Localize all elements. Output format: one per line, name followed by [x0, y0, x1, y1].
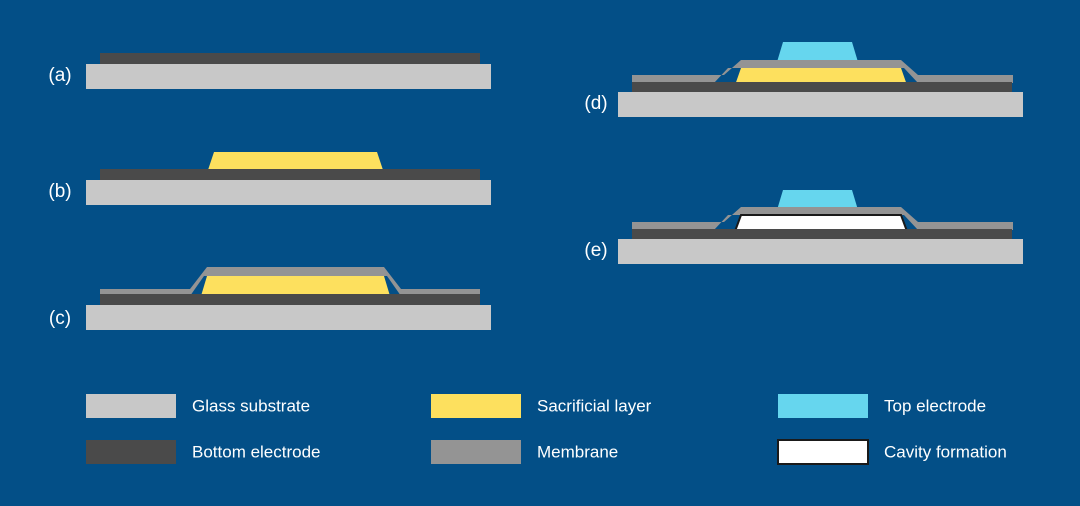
panel-a-bottom-electrode — [100, 53, 480, 64]
legend-item-cavity-formation: Cavity formation — [778, 440, 1007, 464]
panel-d: (d) — [584, 42, 1023, 117]
panel-a: (a) — [48, 53, 491, 89]
panel-e: (e) — [584, 190, 1023, 264]
legend-swatch-cavity-formation — [778, 440, 868, 464]
legend-label-glass-substrate: Glass substrate — [192, 396, 310, 415]
fabrication-process-diagram: (a) (b) (c) (d) — [0, 0, 1080, 506]
legend-item-membrane: Membrane — [431, 440, 618, 464]
panel-d-label: (d) — [584, 93, 607, 114]
panel-b-label: (b) — [48, 181, 71, 202]
legend-item-glass-substrate: Glass substrate — [86, 394, 310, 418]
panel-a-glass-substrate — [86, 64, 491, 89]
legend-swatch-bottom-electrode — [86, 440, 176, 464]
panel-d-glass-substrate — [618, 92, 1023, 117]
panel-e-bottom-electrode — [632, 229, 1012, 240]
panel-c-sacrificial-layer — [201, 276, 390, 296]
legend-label-membrane: Membrane — [537, 442, 618, 461]
panel-c-bottom-electrode — [100, 294, 480, 305]
legend-swatch-top-electrode — [778, 394, 868, 418]
panel-b-sacrificial-layer — [208, 152, 383, 170]
legend-swatch-membrane — [431, 440, 521, 464]
legend-item-sacrificial-layer: Sacrificial layer — [431, 394, 652, 418]
panel-b-glass-substrate — [86, 180, 491, 205]
legend-label-top-electrode: Top electrode — [884, 396, 986, 415]
panel-c: (c) — [49, 267, 491, 330]
panel-d-top-electrode — [777, 42, 858, 62]
panel-c-glass-substrate — [86, 305, 491, 330]
panel-d-bottom-electrode — [632, 82, 1012, 93]
legend-label-sacrificial-layer: Sacrificial layer — [537, 396, 652, 415]
panel-c-label: (c) — [49, 308, 71, 329]
legend-label-bottom-electrode: Bottom electrode — [192, 442, 321, 461]
panel-e-glass-substrate — [618, 239, 1023, 264]
panel-b: (b) — [48, 152, 491, 205]
legend-item-bottom-electrode: Bottom electrode — [86, 440, 321, 464]
legend-swatch-sacrificial-layer — [431, 394, 521, 418]
panel-e-label: (e) — [584, 240, 607, 261]
legend-item-top-electrode: Top electrode — [778, 394, 986, 418]
process-flow-figure: (a) (b) (c) (d) — [0, 0, 1080, 506]
panel-a-label: (a) — [48, 65, 71, 86]
legend: Glass substrate Bottom electrode Sacrifi… — [86, 394, 1007, 464]
panel-b-bottom-electrode — [100, 169, 480, 180]
legend-swatch-glass-substrate — [86, 394, 176, 418]
legend-label-cavity-formation: Cavity formation — [884, 442, 1007, 461]
